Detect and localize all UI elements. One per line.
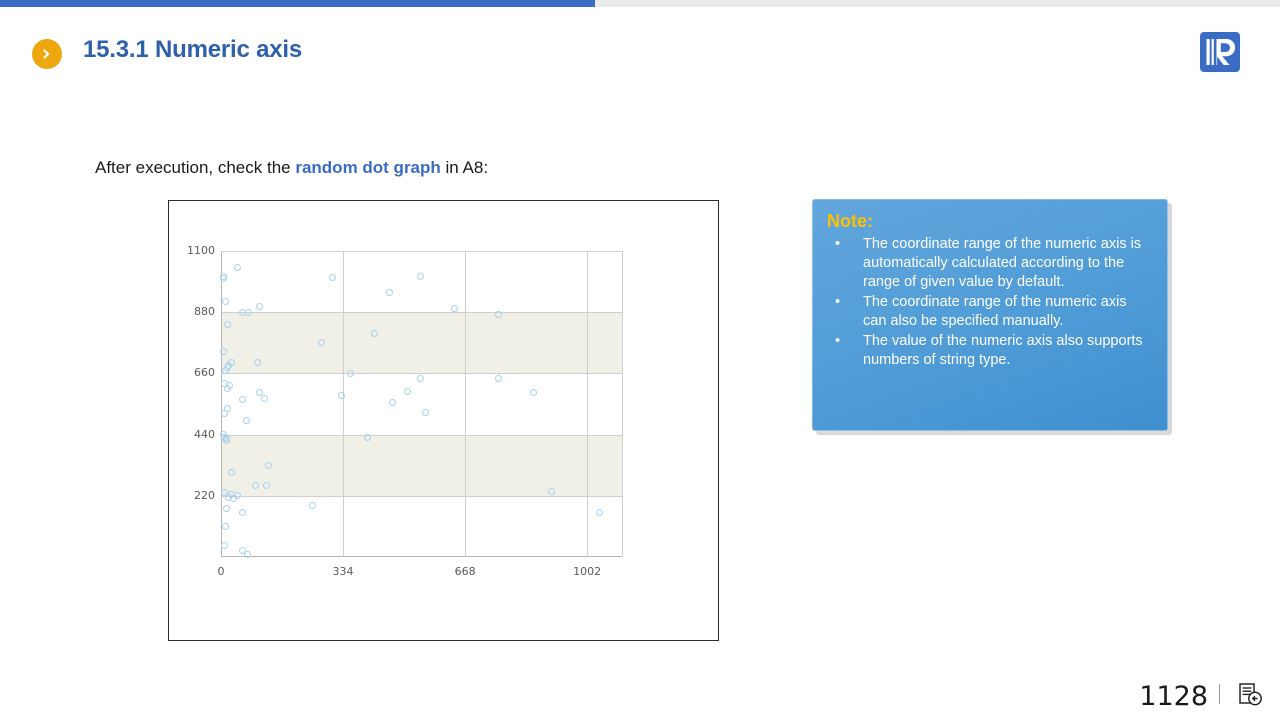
note-bullet-text: The coordinate range of the numeric axis… [863,236,1141,291]
bullet-dot-icon: • [835,293,840,312]
x-tick-label: 1002 [557,565,617,578]
note-bullet-text: The value of the numeric axis also suppo… [863,333,1143,368]
scatter-point [244,551,251,558]
r-logo-icon [1198,30,1242,74]
scatter-point [389,399,396,406]
intro-highlight: random dot graph [295,158,440,177]
grid-line-horizontal [221,496,623,497]
scatter-point [417,375,424,382]
scatter-point [230,495,237,502]
grid-line-vertical [465,251,466,557]
scatter-point [596,509,603,516]
scatter-point [234,264,241,271]
progress-bar-track [0,0,1280,7]
scatter-point [371,330,378,337]
grid-line-horizontal [221,373,623,374]
scatter-point [245,309,252,316]
note-bullet-item: •The value of the numeric axis also supp… [827,332,1153,371]
note-box: Note: •The coordinate range of the numer… [812,199,1168,431]
scatter-point [386,289,393,296]
scatter-point [256,303,263,310]
intro-line: After execution, check the random dot gr… [95,158,488,178]
scatter-point [364,434,371,441]
footer-divider [1219,684,1220,704]
grid-line-vertical [622,251,623,557]
scatter-point [223,505,230,512]
scatter-point [224,385,231,392]
grid-line-horizontal [221,312,623,313]
note-bullet-item: •The coordinate range of the numeric axi… [827,235,1153,293]
x-tick-label: 0 [191,565,251,578]
scatter-point [243,417,250,424]
y-tick-label: 880 [169,305,215,318]
chevron-right-icon [32,39,62,69]
scatter-point [451,305,458,312]
slide-header: 15.3.1 Numeric axis [0,30,1280,80]
scatter-point [347,370,354,377]
page-number: 1128 [1139,681,1208,712]
y-tick-label: 440 [169,428,215,441]
scatter-point [422,409,429,416]
y-tick-label: 1100 [169,244,215,257]
grid-line-vertical [343,251,344,557]
grid-line-horizontal [221,435,623,436]
scatter-point [254,359,261,366]
intro-prefix: After execution, check the [95,158,295,177]
scatter-point [239,396,246,403]
x-tick-label: 668 [435,565,495,578]
scatter-point [252,482,259,489]
scatter-point [309,502,316,509]
chart-frame: 2204406608801100 03346681002 [168,200,719,641]
note-bullet-item: •The coordinate range of the numeric axi… [827,293,1153,332]
y-tick-label: 660 [169,366,215,379]
note-bullet-text: The coordinate range of the numeric axis… [863,294,1127,329]
scatter-point [404,388,411,395]
plot-band [221,312,623,373]
scatter-point [220,275,227,282]
scatter-point [239,509,246,516]
plot-area [221,251,623,557]
bullet-dot-icon: • [835,332,840,351]
y-tick-label: 220 [169,489,215,502]
scatter-point [495,375,502,382]
page-title: 15.3.1 Numeric axis [83,36,302,64]
scatter-point [222,298,229,305]
scatter-point [329,274,336,281]
scatter-point [222,367,229,374]
document-back-icon[interactable] [1236,682,1264,708]
intro-suffix: in A8: [441,158,488,177]
scatter-point [221,410,228,417]
scatter-point [530,389,537,396]
x-axis-line [221,556,623,557]
grid-line-vertical [587,251,588,557]
scatter-point [222,523,229,530]
scatter-point [265,462,272,469]
scatter-chart: 2204406608801100 03346681002 [169,201,720,642]
progress-bar-fill [0,0,595,7]
y-axis-line [221,251,222,557]
bullet-dot-icon: • [835,235,840,254]
note-bullet-list: •The coordinate range of the numeric axi… [827,235,1153,371]
scatter-point [221,542,228,549]
scatter-point [338,392,345,399]
scatter-point [261,395,268,402]
scatter-point [263,482,270,489]
grid-line-horizontal [221,251,623,252]
plot-band [221,435,623,496]
note-title: Note: [827,210,1153,233]
scatter-point [417,273,424,280]
x-tick-label: 334 [313,565,373,578]
